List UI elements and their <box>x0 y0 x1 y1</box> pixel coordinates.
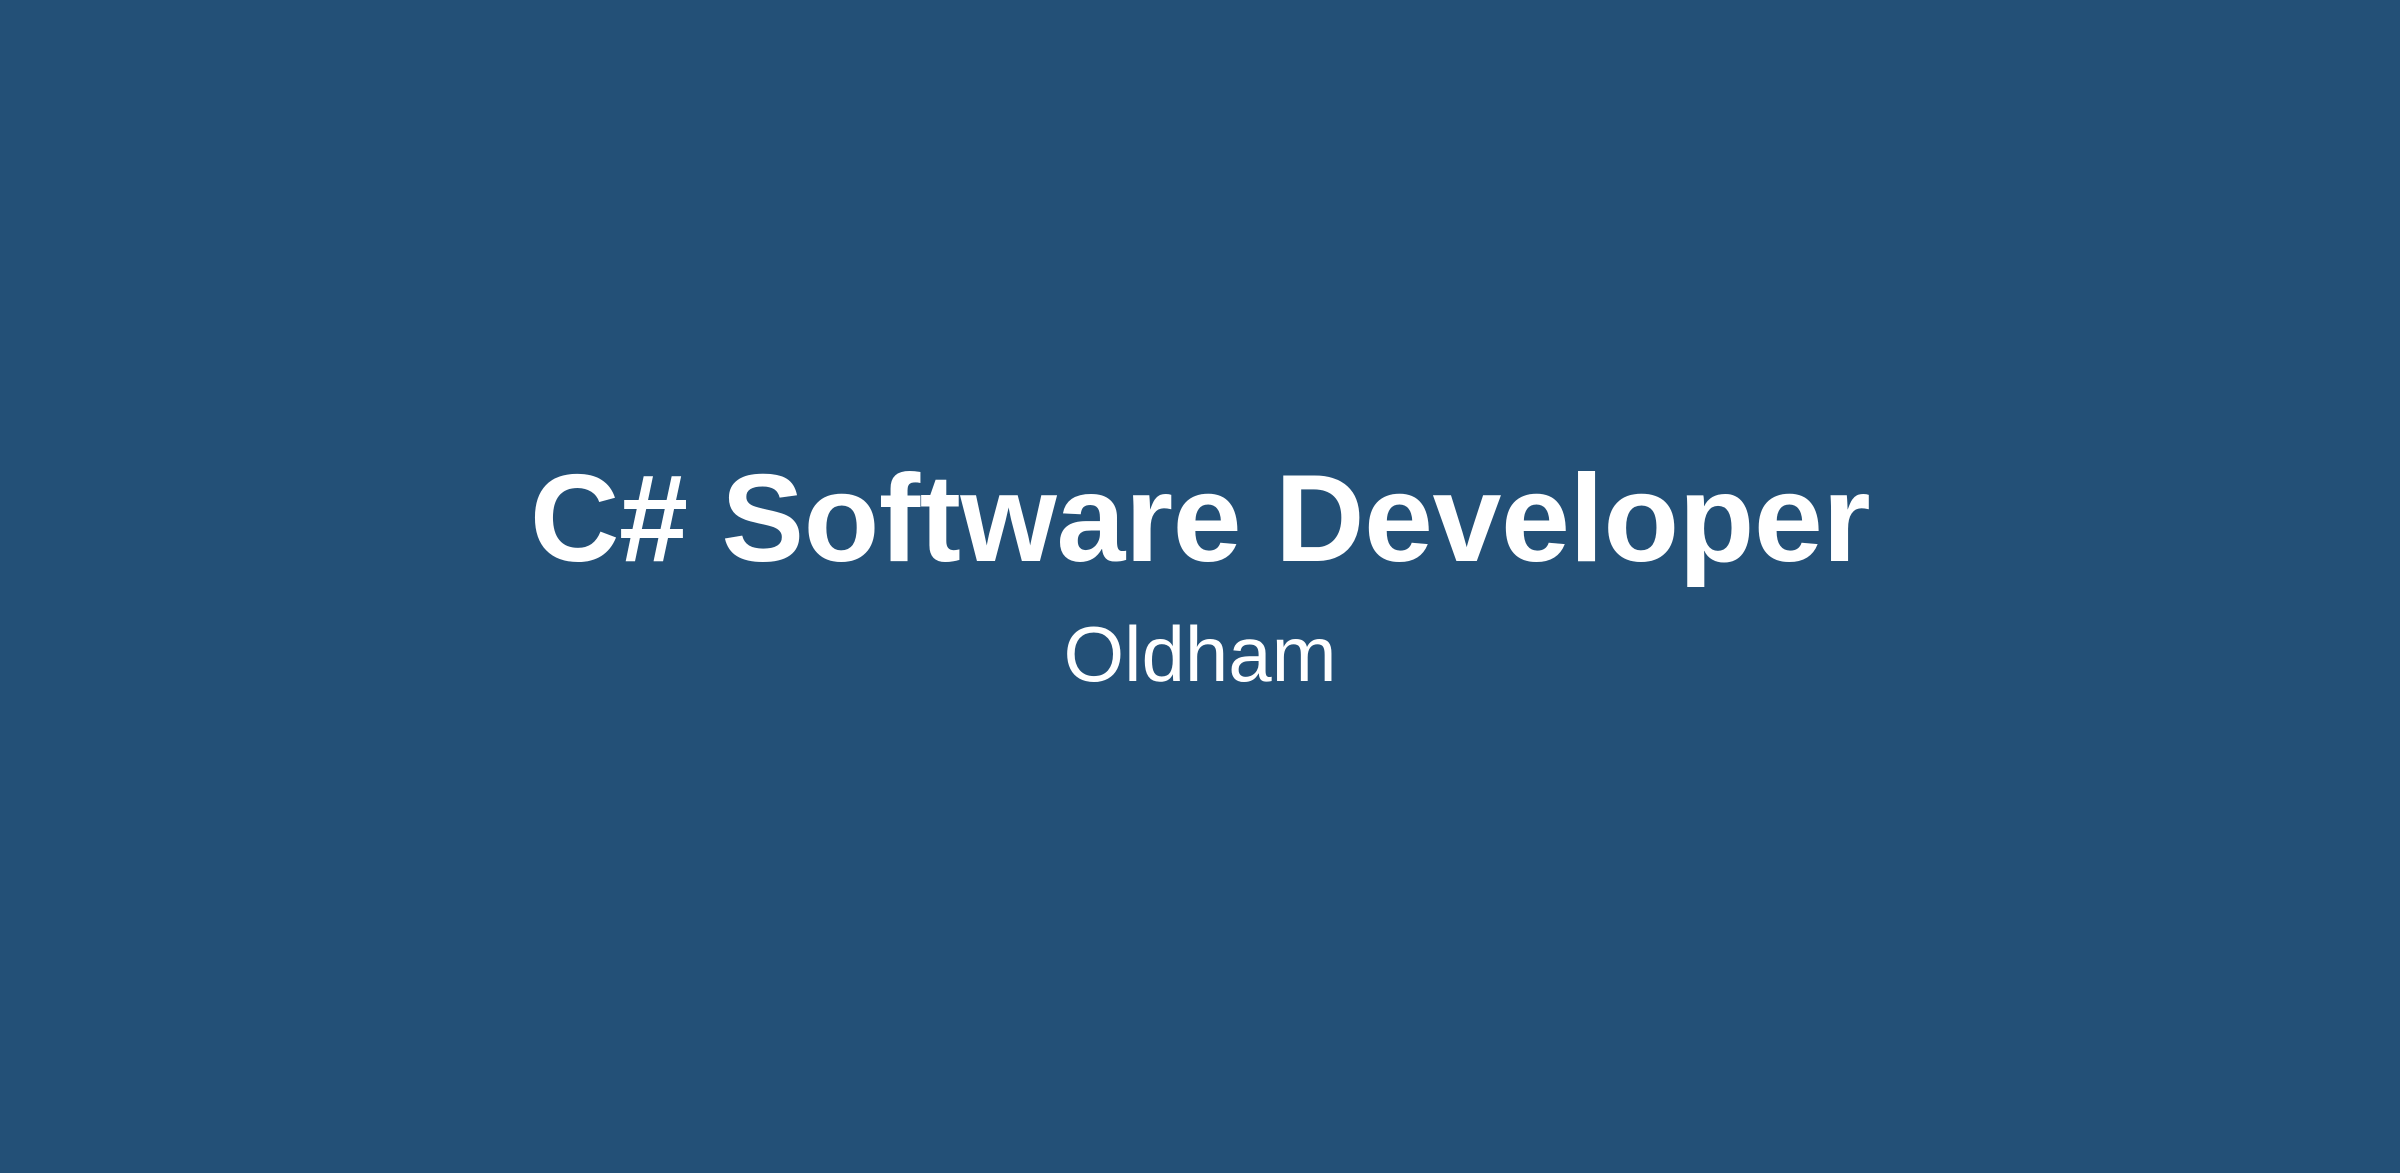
job-banner: C# Software Developer Oldham <box>0 0 2400 1173</box>
job-banner-content: C# Software Developer Oldham <box>0 0 2400 1173</box>
job-location: Oldham <box>1063 615 1336 693</box>
job-title: C# Software Developer <box>530 457 1870 581</box>
